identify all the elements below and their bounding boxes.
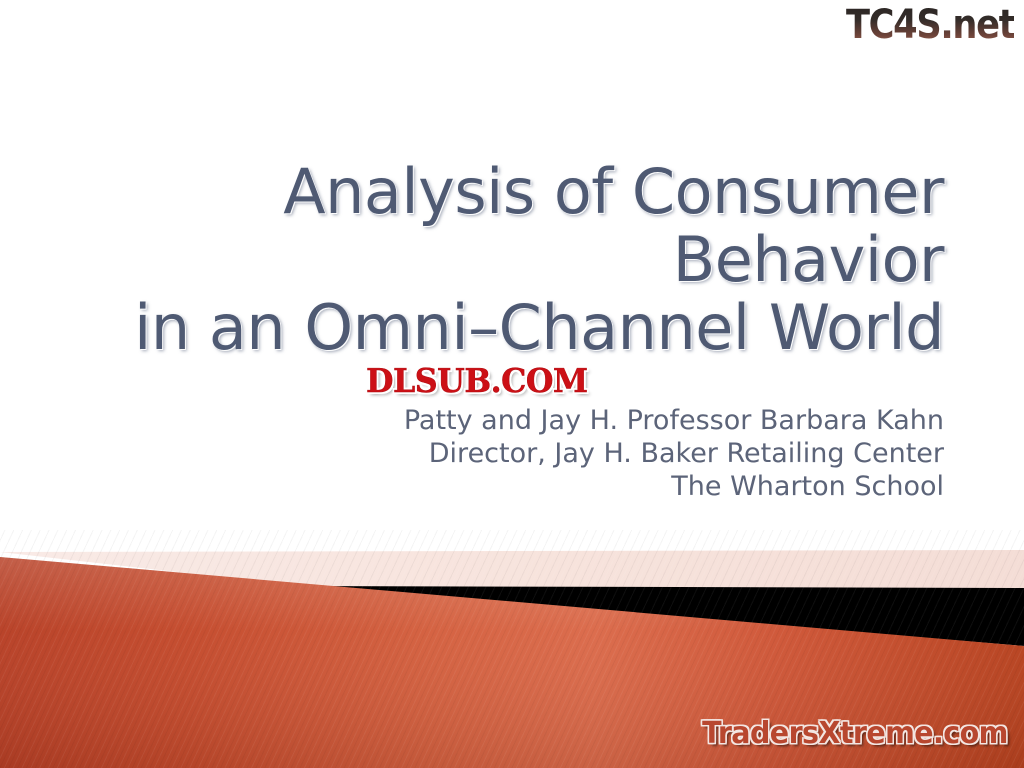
tradersxtreme-watermark: TradersXtreme.com [702,716,1008,752]
presentation-slide: TC4S.net Analysis of Consumer Behavior i… [0,0,1024,768]
slide-title: Analysis of Consumer Behavior in an Omni… [64,158,944,362]
title-line-1: Analysis of Consumer [64,158,944,226]
banner-pink-wedge [0,550,1024,590]
banner-black-wedge [300,586,1024,646]
dlsub-watermark: DLSUB.COM [366,362,588,400]
subtitle-line-3: The Wharton School [64,470,944,503]
subtitle-line-1: Patty and Jay H. Professor Barbara Kahn [64,404,944,437]
slide-subtitle: Patty and Jay H. Professor Barbara Kahn … [64,404,944,503]
subtitle-line-2: Director, Jay H. Baker Retailing Center [64,437,944,470]
title-line-3: in an Omni–Channel World [64,294,944,362]
title-line-2: Behavior [64,226,944,294]
tc4s-watermark: TC4S.net [846,2,1014,48]
